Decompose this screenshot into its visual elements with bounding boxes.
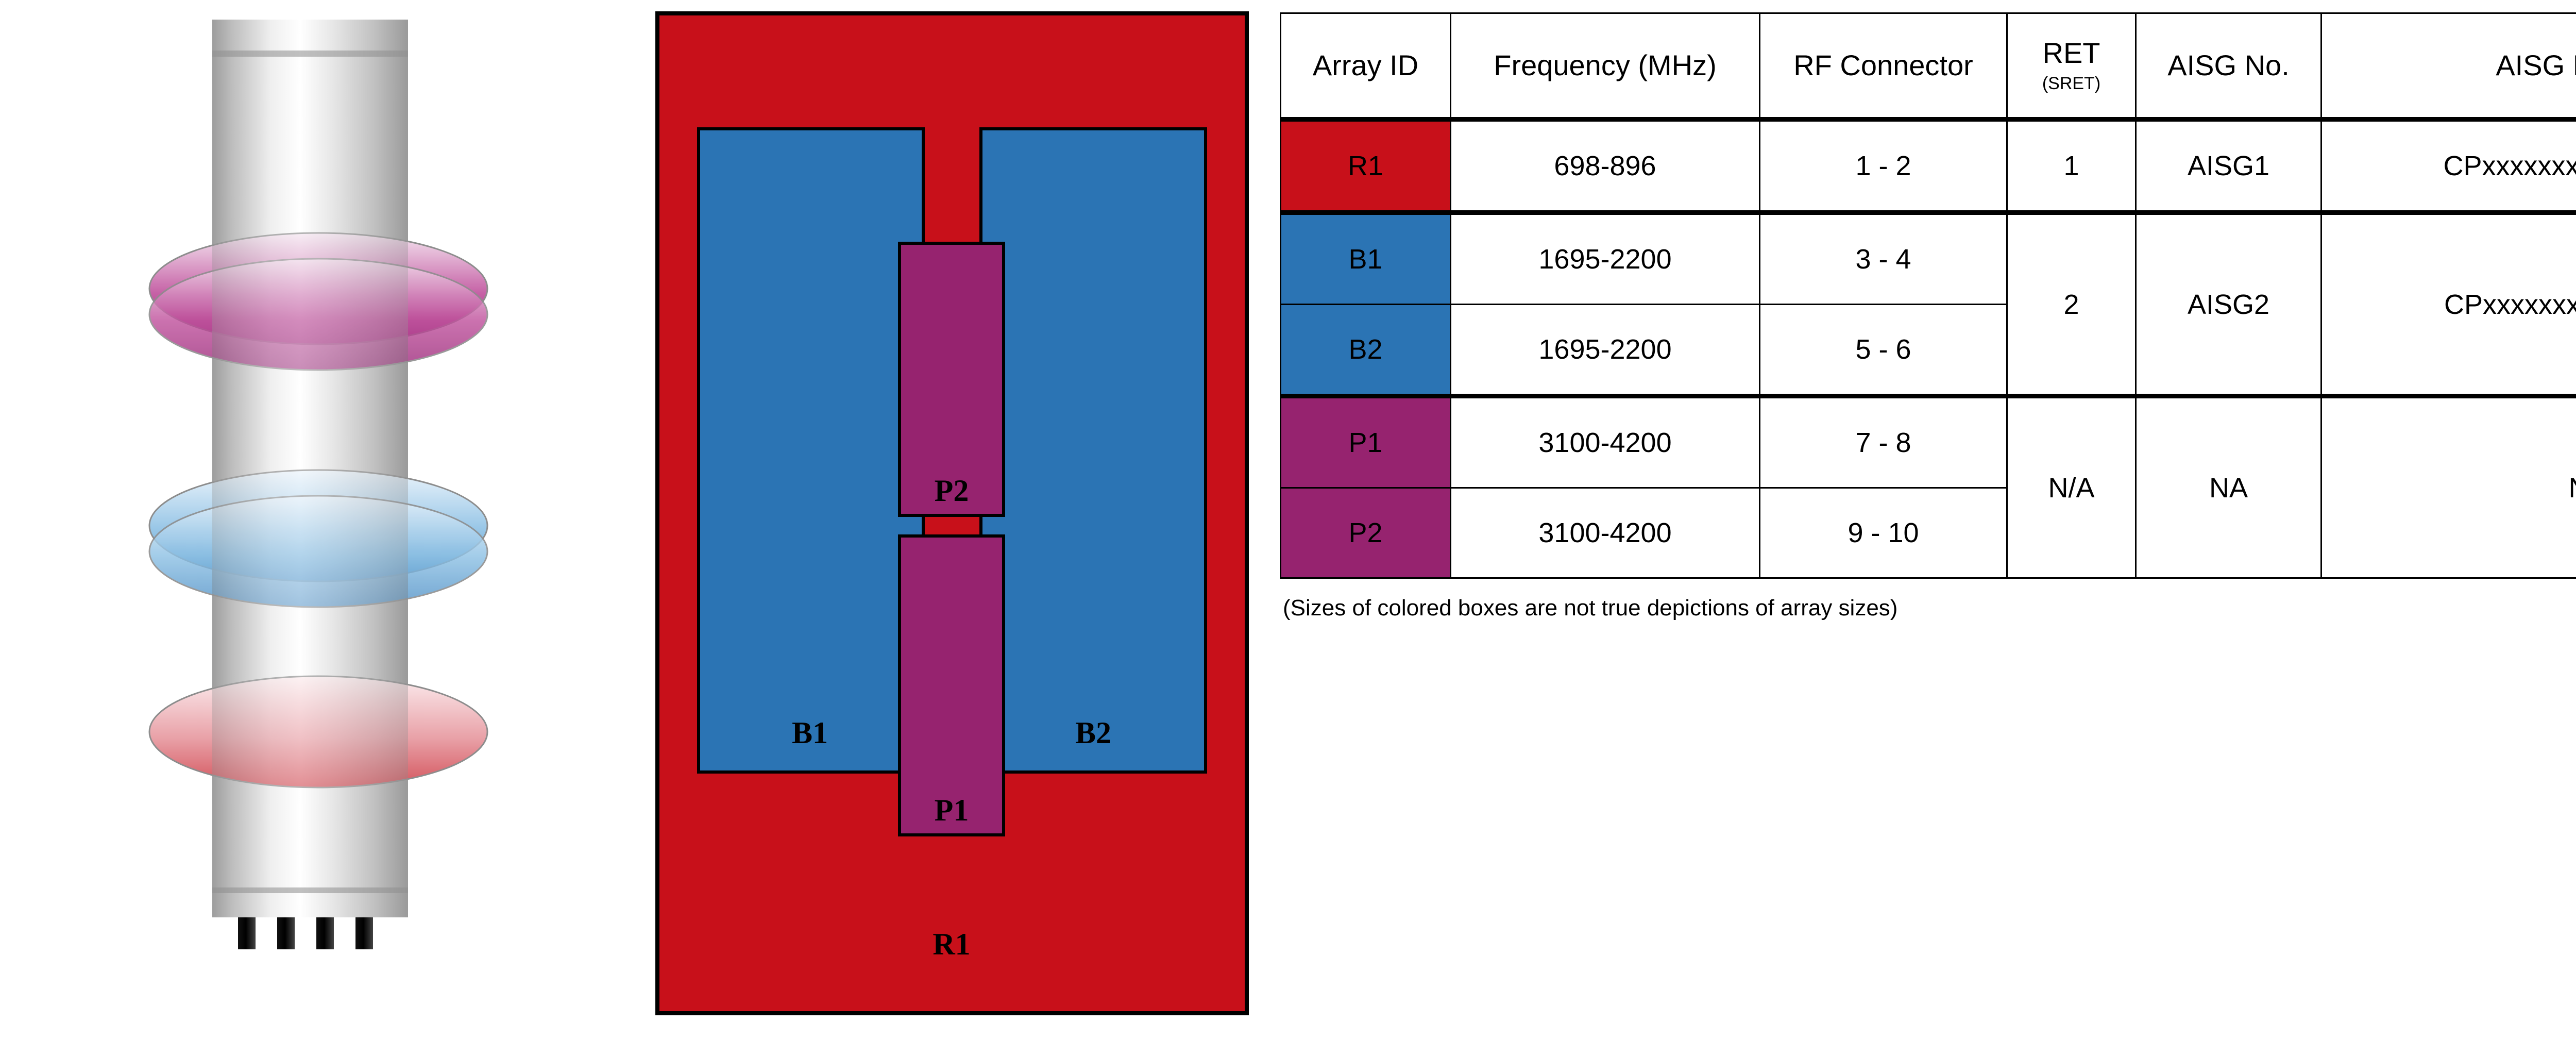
array-label-b1: B1: [792, 716, 828, 750]
cell-array-id: B2: [1281, 305, 1451, 396]
cell-rf-connector: 1 - 2: [1760, 120, 2007, 213]
table-body: R1 698-896 1 - 2 1 AISG1 CPxxxxxxxxxxxxx…: [1281, 120, 2576, 578]
cell-ret: N/A: [2007, 396, 2136, 578]
cell-aisg-ret-uid: CPxxxxxxxxxxxxxxxxB1: [2321, 213, 2576, 396]
cell-aisg-ret-uid: CPxxxxxxxxxxxxxxxxR1: [2321, 120, 2576, 213]
array-label-b2: B2: [1075, 716, 1111, 750]
cell-frequency: 1695-2200: [1451, 213, 1760, 305]
column-header-rf-connector: RF Connector: [1760, 13, 2007, 120]
cell-frequency: 1695-2200: [1451, 305, 1760, 396]
antenna-illustration: [0, 0, 644, 1039]
cell-aisg-ret-uid: N/A: [2321, 396, 2576, 578]
column-header-ret: RET (SRET): [2007, 13, 2136, 120]
cell-ret: 1: [2007, 120, 2136, 213]
table-footnote: (Sizes of colored boxes are not true dep…: [1283, 595, 2416, 621]
column-header-aisg-ret-uid: AISG RET UID: [2321, 13, 2576, 120]
column-header-array-id: Array ID: [1281, 13, 1451, 120]
cell-rf-connector: 7 - 8: [1760, 396, 2007, 488]
cell-frequency: 698-896: [1451, 120, 1760, 213]
cell-array-id: B1: [1281, 213, 1451, 305]
array-block-p1: [900, 536, 1004, 835]
cell-array-id: P1: [1281, 396, 1451, 488]
column-header-aisg-no: AISG No.: [2136, 13, 2321, 120]
cell-aisg-no: NA: [2136, 396, 2321, 578]
cell-frequency: 3100-4200: [1451, 396, 1760, 488]
cell-rf-connector: 9 - 10: [1760, 488, 2007, 578]
column-header-frequency: Frequency (MHz): [1451, 13, 1760, 120]
cell-rf-connector: 3 - 4: [1760, 213, 2007, 305]
cell-aisg-no: AISG1: [2136, 120, 2321, 213]
array-layout-diagram: P2 P1 B1 B2 R1: [655, 11, 1249, 1015]
cell-array-id: P2: [1281, 488, 1451, 578]
table-row: B1 1695-2200 3 - 4 2 AISG2 CPxxxxxxxxxxx…: [1281, 213, 2576, 305]
array-block-b1: [699, 129, 923, 772]
table-row: R1 698-896 1 - 2 1 AISG1 CPxxxxxxxxxxxxx…: [1281, 120, 2576, 213]
radome-front-face: [212, 20, 408, 917]
array-specification-table: Array ID Frequency (MHz) RF Connector RE…: [1280, 12, 2576, 579]
cell-ret: 2: [2007, 213, 2136, 396]
array-layout-svg: P2 P1 B1 B2 R1: [655, 11, 1249, 1015]
array-label-p2: P2: [935, 474, 969, 508]
connector-pins: [238, 917, 373, 949]
table-header: Array ID Frequency (MHz) RF Connector RE…: [1281, 13, 2576, 120]
antenna-illustration-svg: [0, 0, 644, 1039]
cell-frequency: 3100-4200: [1451, 488, 1760, 578]
cell-rf-connector: 5 - 6: [1760, 305, 2007, 396]
array-label-p1: P1: [935, 793, 969, 827]
array-label-r1: R1: [933, 927, 970, 961]
table-row: P1 3100-4200 7 - 8 N/A NA N/A: [1281, 396, 2576, 488]
column-header-ret-sub: (SRET): [2008, 75, 2135, 92]
cell-array-id: R1: [1281, 120, 1451, 213]
array-table-panel: Array ID Frequency (MHz) RF Connector RE…: [1280, 12, 2576, 579]
cell-aisg-no: AISG2: [2136, 213, 2321, 396]
column-header-ret-main: RET: [2008, 39, 2135, 68]
array-block-b2: [981, 129, 1206, 772]
table-header-row: Array ID Frequency (MHz) RF Connector RE…: [1281, 13, 2576, 120]
